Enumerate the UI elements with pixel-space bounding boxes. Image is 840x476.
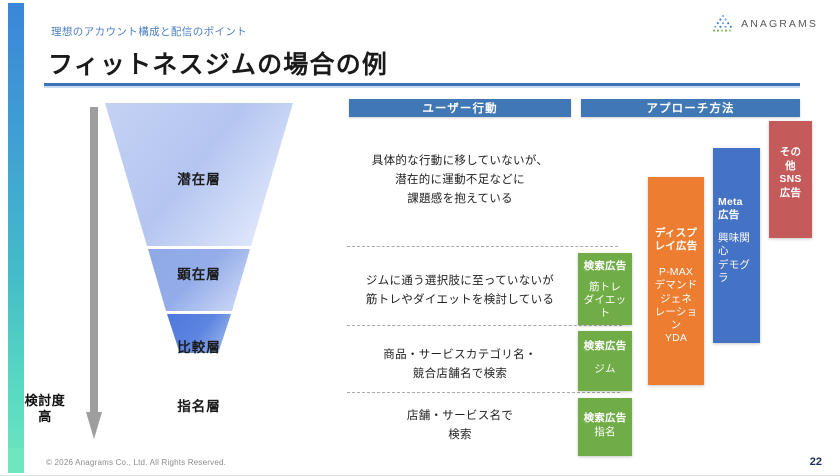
approach-box-subtitle: 筋トレダイエット — [584, 281, 627, 320]
brand-logo: ANAGRAMS — [712, 14, 818, 33]
approach-box-title: ディスプレイ広告 — [655, 227, 698, 253]
anagrams-triangle-icon — [712, 14, 734, 33]
consideration-arrow — [86, 107, 102, 445]
column-header-user-behavior-label: ユーザー行動 — [422, 100, 497, 116]
approach-box-display-ads[interactable]: ディスプレイ広告 P-MAXデマンドジェネレーションYDA — [648, 177, 704, 385]
column-header-approach-method-label: アプローチ方法 — [646, 100, 734, 116]
behavior-text-1: ジムに通う選択肢に至っていないが筋トレやダイエットを検討している — [349, 272, 571, 310]
funnel-stage-label-0: 潜在層 — [104, 168, 294, 188]
row-separator-3 — [347, 392, 620, 393]
page-title: フィットネスジムの場合の例 — [48, 45, 388, 81]
column-header-user-behavior: ユーザー行動 — [349, 99, 571, 117]
column-header-approach-method: アプローチ方法 — [581, 99, 800, 117]
consideration-label-line2: 高 — [12, 409, 78, 425]
behavior-text-2: 商品・サービスカテゴリ名・競合店舗名で検索 — [349, 346, 571, 384]
approach-box-search-ads-fitness[interactable]: 検索広告 筋トレダイエット — [578, 253, 632, 325]
approach-box-other-sns-ads[interactable]: その他SNS広告 — [769, 121, 812, 238]
row-separator-2 — [347, 325, 622, 326]
behavior-text-0: 具体的な行動に移していないが、潜在的に運動不足などに課題感を抱えている — [349, 152, 571, 209]
slide-canvas: 理想のアカウント構成と配信のポイント フィットネスジムの場合の例 ANAGRAM… — [0, 0, 840, 476]
funnel-stage-label-2: 比較層 — [104, 336, 294, 356]
copyright-text: © 2026 Anagrams Co., Ltd. All Rights Res… — [46, 458, 226, 467]
approach-box-title: Meta広告 — [718, 196, 743, 222]
slide-eyebrow: 理想のアカウント構成と配信のポイント — [51, 24, 247, 39]
approach-box-subtitle: 興味関心デモグラ — [718, 232, 750, 285]
behavior-text-3: 店舗・サービス名で検索 — [349, 407, 571, 445]
funnel-diagram: 潜在層 顕在層 比較層 指名層 — [104, 103, 294, 353]
page-number: 22 — [810, 456, 822, 468]
approach-box-title: 検索広告 — [584, 412, 627, 425]
approach-box-subtitle: P-MAXデマンドジェネレーションYDA — [655, 266, 698, 345]
funnel-stage-label-1: 顕在層 — [104, 263, 294, 283]
footer-accent-bar — [8, 448, 24, 470]
logo-wordmark: ANAGRAMS — [741, 18, 818, 30]
consideration-label-line1: 検討度 — [12, 393, 78, 409]
row-separator-1 — [347, 246, 618, 247]
consideration-label: 検討度 高 — [12, 393, 78, 426]
approach-box-title: 検索広告 — [584, 340, 627, 353]
funnel-stage-label-3: 指名層 — [104, 395, 294, 415]
approach-box-search-ads-brand[interactable]: 検索広告 指名 — [578, 398, 632, 456]
title-divider-shadow — [44, 86, 800, 88]
approach-box-title: 検索広告 — [584, 260, 627, 273]
approach-box-title: その他SNS広告 — [779, 146, 801, 201]
approach-box-search-ads-gym[interactable]: 検索広告 ジム — [578, 331, 632, 391]
approach-box-subtitle: ジム — [594, 363, 615, 376]
approach-box-subtitle: 指名 — [594, 426, 615, 439]
approach-box-meta-ads[interactable]: Meta広告 興味関心デモグラ — [713, 148, 760, 343]
